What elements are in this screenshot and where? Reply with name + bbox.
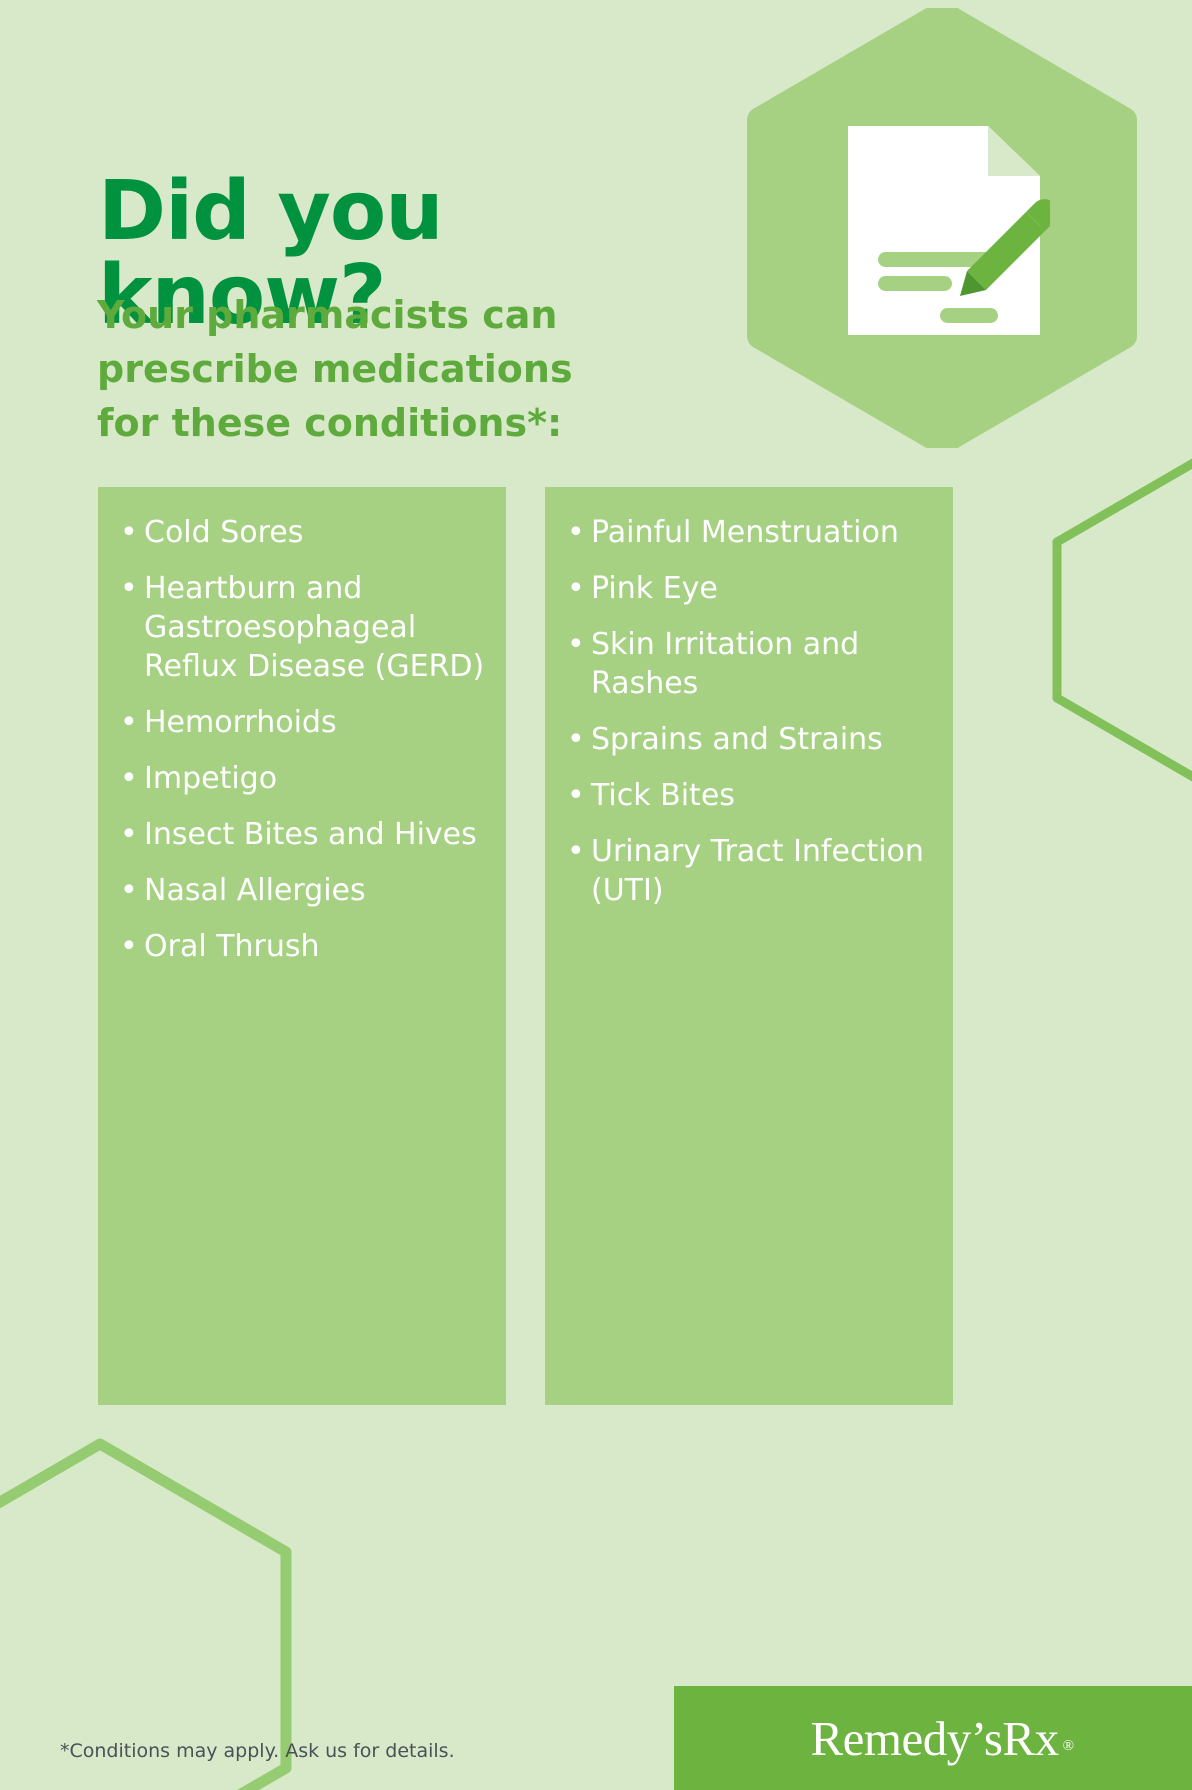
list-item: • Pink Eye <box>561 569 935 608</box>
list-item-label: Sprains and Strains <box>591 722 883 757</box>
bullet-icon: • <box>567 513 585 552</box>
list-item-label: Cold Sores <box>144 515 303 550</box>
list-item: • Oral Thrush <box>114 927 488 966</box>
list-item: • Nasal Allergies <box>114 871 488 910</box>
registered-trademark-icon: ® <box>1063 1738 1074 1755</box>
brand-name: Remedy’sRx <box>810 1710 1058 1767</box>
list-item-label: Nasal Allergies <box>144 873 366 908</box>
bullet-icon: • <box>120 513 138 552</box>
bullet-icon: • <box>567 776 585 815</box>
list-item-label: Tick Bites <box>591 778 735 813</box>
poster-canvas: Did you know? Your pharmacists can presc… <box>0 0 1192 1790</box>
conditions-panel-right: • Painful Menstruation • Pink Eye • Skin… <box>545 487 953 1405</box>
list-item-label: Pink Eye <box>591 571 718 606</box>
conditions-list-right: • Painful Menstruation • Pink Eye • Skin… <box>545 487 953 910</box>
list-item: • Tick Bites <box>561 776 935 815</box>
list-item: • Cold Sores <box>114 513 488 552</box>
bullet-icon: • <box>567 625 585 664</box>
bullet-icon: • <box>120 815 138 854</box>
list-item: • Sprains and Strains <box>561 720 935 759</box>
bullet-icon: • <box>120 569 138 608</box>
subheading-line-3: for these conditions*: <box>97 397 617 451</box>
brand-logo-text: Remedy’sRx® <box>674 1686 1192 1790</box>
bullet-icon: • <box>567 720 585 759</box>
list-item: • Impetigo <box>114 759 488 798</box>
subheading-line-1: Your pharmacists can <box>97 289 617 343</box>
list-item-label: Painful Menstruation <box>591 515 899 550</box>
list-item: • Insect Bites and Hives <box>114 815 488 854</box>
list-item: • Urinary Tract Infection (UTI) <box>561 832 935 910</box>
bullet-icon: • <box>120 927 138 966</box>
bullet-icon: • <box>567 569 585 608</box>
conditions-panel-left: • Cold Sores • Heartburn and Gastroesoph… <box>98 487 506 1405</box>
list-item-label: Heartburn and Gastroesophageal Reflux Di… <box>144 571 484 684</box>
list-item-label: Hemorrhoids <box>144 705 337 740</box>
brand-logo-block: Remedy’sRx® <box>674 1686 1192 1790</box>
list-item-label: Oral Thrush <box>144 929 320 964</box>
list-item: • Heartburn and Gastroesophageal Reflux … <box>114 569 488 686</box>
hexagon-outline-right-shape <box>1040 450 1192 790</box>
hexagon-outline-bottom-left-shape <box>0 1430 310 1790</box>
list-item-label: Urinary Tract Infection (UTI) <box>591 834 924 908</box>
list-item-label: Impetigo <box>144 761 277 796</box>
rx-letters-icon <box>860 140 970 250</box>
list-item: • Hemorrhoids <box>114 703 488 742</box>
disclaimer-text: *Conditions may apply. Ask us for detail… <box>60 1740 455 1762</box>
list-item-label: Insect Bites and Hives <box>144 817 477 852</box>
conditions-list-left: • Cold Sores • Heartburn and Gastroesoph… <box>98 487 506 966</box>
bullet-icon: • <box>120 703 138 742</box>
bullet-icon: • <box>567 832 585 871</box>
list-item: • Skin Irritation and Rashes <box>561 625 935 703</box>
bullet-icon: • <box>120 871 138 910</box>
subheading-line-2: prescribe medications <box>97 343 617 397</box>
bullet-icon: • <box>120 759 138 798</box>
list-item-label: Skin Irritation and Rashes <box>591 627 859 701</box>
list-item: • Painful Menstruation <box>561 513 935 552</box>
page-subheading: Your pharmacists can prescribe medicatio… <box>97 289 617 451</box>
